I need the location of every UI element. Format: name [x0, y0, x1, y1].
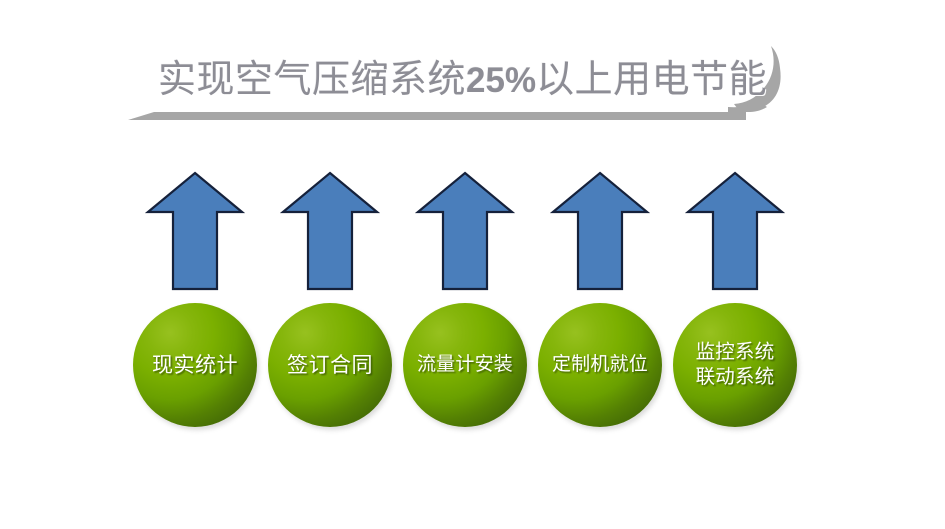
process-node-4: 定制机就位 [538, 0, 662, 529]
up-arrow-icon-5 [685, 170, 785, 292]
stage-label-3: 流量计安装 [413, 352, 517, 378]
up-arrow-icon-1 [145, 170, 245, 292]
up-arrow-icon-4 [550, 170, 650, 292]
up-arrow-icon-3 [415, 170, 515, 292]
stage-circle-4[interactable]: 定制机就位 [538, 303, 662, 427]
up-arrow-icon-2 [280, 170, 380, 292]
process-node-5: 监控系统 联动系统 [673, 0, 797, 529]
stage-label-1: 现实统计 [148, 352, 242, 378]
stage-label-4: 定制机就位 [548, 352, 652, 378]
stage-label-2: 签订合同 [283, 352, 377, 378]
stage-circle-5[interactable]: 监控系统 联动系统 [673, 303, 797, 427]
slide-canvas: 实现空气压缩系统25%以上用电节能 现实统计 签订合同 流量计安装 [0, 0, 945, 529]
process-node-1: 现实统计 [133, 0, 257, 529]
stage-circle-2[interactable]: 签订合同 [268, 303, 392, 427]
stage-circle-3[interactable]: 流量计安装 [403, 303, 527, 427]
stage-circle-1[interactable]: 现实统计 [133, 303, 257, 427]
process-node-2: 签订合同 [268, 0, 392, 529]
process-node-3: 流量计安装 [403, 0, 527, 529]
stage-label-5: 监控系统 联动系统 [692, 340, 779, 390]
